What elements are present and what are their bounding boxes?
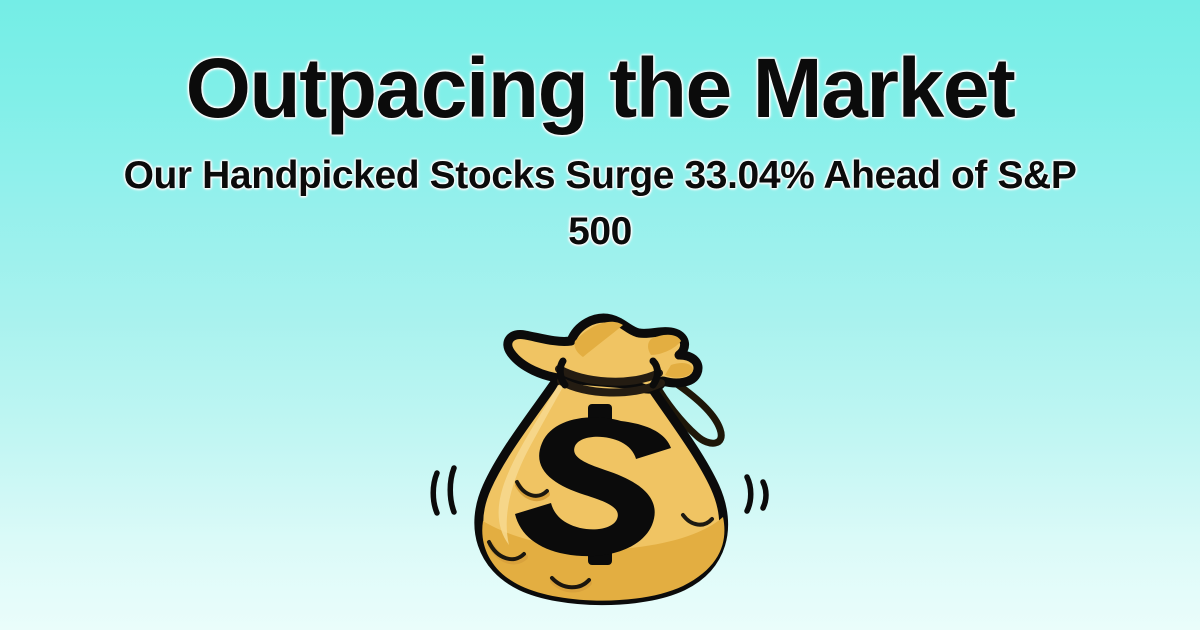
motion-lines-right-icon: [747, 477, 766, 511]
promo-banner: Outpacing the Market Our Handpicked Stoc…: [0, 0, 1200, 630]
motion-lines-left-icon: [433, 468, 454, 513]
page-title: Outpacing the Market: [0, 40, 1200, 136]
money-bag-illustration: [425, 305, 775, 615]
page-subtitle: Our Handpicked Stocks Surge 33.04% Ahead…: [100, 148, 1100, 260]
